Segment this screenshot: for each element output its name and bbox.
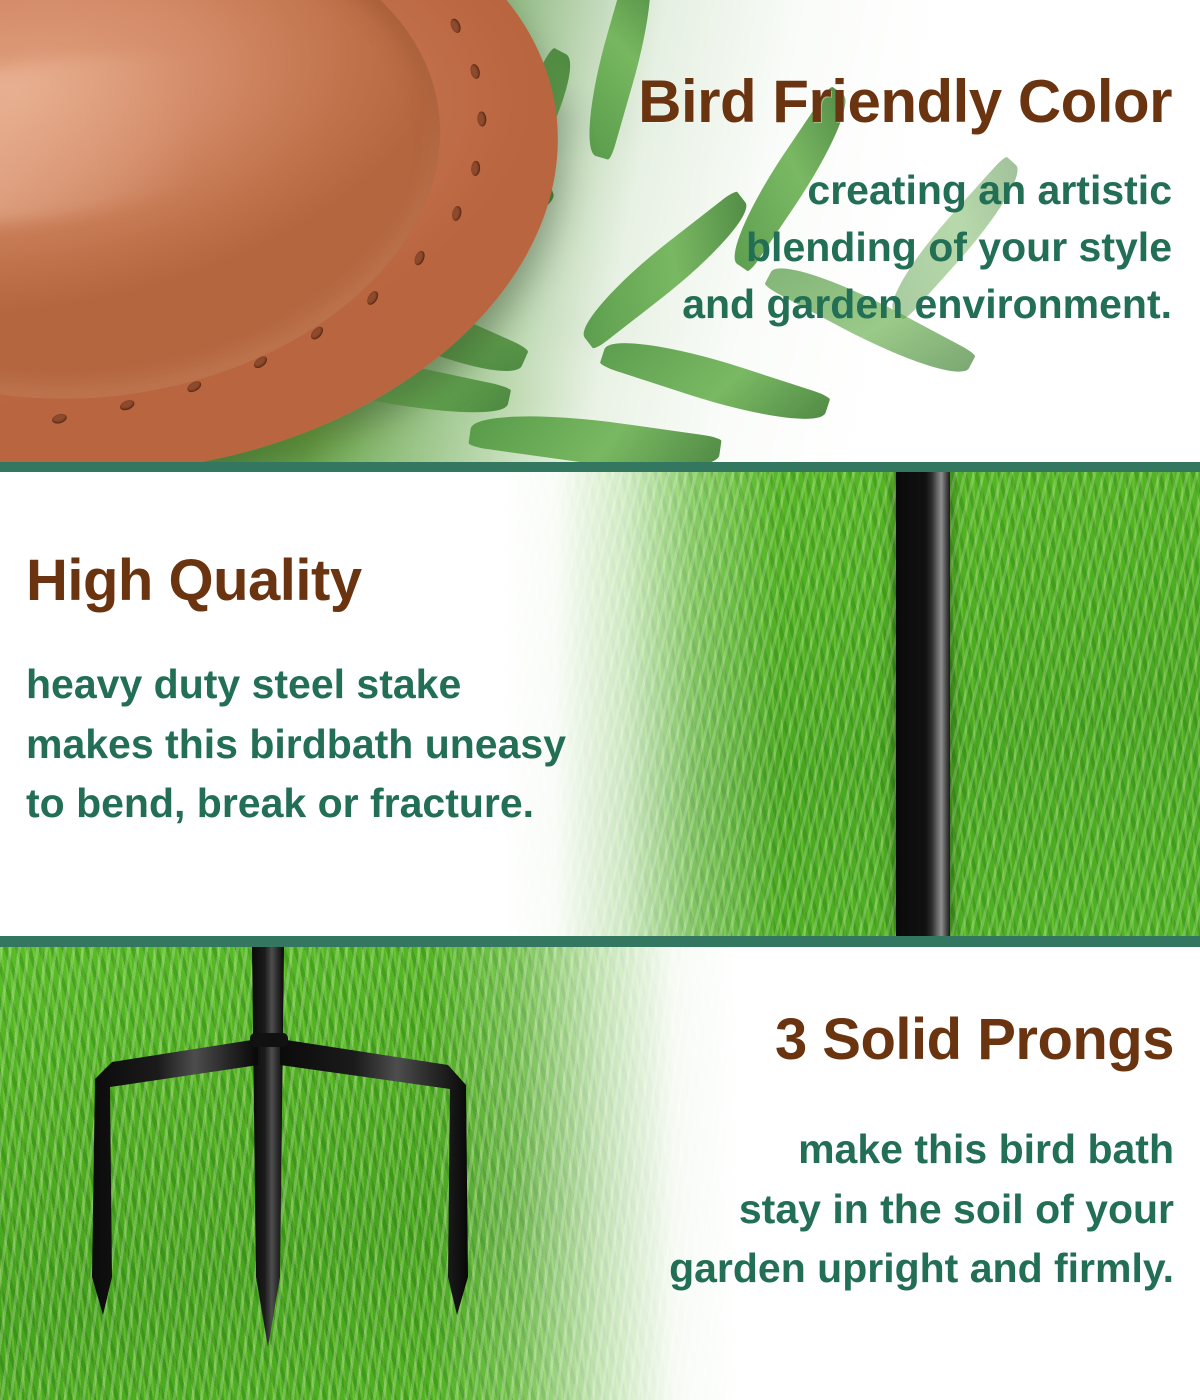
- drain-hole: [469, 63, 481, 80]
- body-line: creating an artistic: [638, 162, 1172, 219]
- product-feature-infographic: Bird Friendly Color creating an artistic…: [0, 0, 1200, 1400]
- body-line: make this bird bath: [669, 1120, 1174, 1179]
- panel-bird-friendly-color-body: creating an artistic blending of your st…: [638, 162, 1172, 334]
- panel-bird-friendly-color: Bird Friendly Color creating an artistic…: [0, 0, 1200, 462]
- body-line: stay in the soil of your: [669, 1180, 1174, 1239]
- body-line: heavy duty steel stake: [26, 655, 566, 714]
- panel-three-solid-prongs-body: make this bird bath stay in the soil of …: [669, 1120, 1174, 1298]
- drain-hole: [119, 398, 136, 412]
- body-line: blending of your style: [638, 219, 1172, 276]
- drain-hole: [450, 205, 462, 222]
- body-line: garden upright and firmly.: [669, 1239, 1174, 1298]
- drain-hole: [51, 412, 68, 425]
- panel-divider: [0, 936, 1200, 947]
- left-prong: [92, 1039, 258, 1315]
- drain-hole: [365, 289, 381, 306]
- panel-high-quality-heading: High Quality: [26, 550, 566, 611]
- prong-collar: [250, 1033, 288, 1047]
- center-prong: [252, 947, 284, 1347]
- drain-hole: [412, 249, 426, 266]
- panel-high-quality-body: heavy duty steel stake makes this birdba…: [26, 655, 566, 833]
- panel-three-solid-prongs: 3 Solid Prongs make this bird bath stay …: [0, 947, 1200, 1400]
- right-prong: [280, 1039, 468, 1315]
- panel-three-solid-prongs-text: 3 Solid Prongs make this bird bath stay …: [669, 1009, 1174, 1299]
- panel-divider: [0, 462, 1200, 472]
- body-line: and garden environment.: [638, 276, 1172, 333]
- steel-pole-grass-photo: [500, 472, 1200, 936]
- three-prong-stake: [0, 947, 740, 1400]
- body-line: makes this birdbath uneasy: [26, 715, 566, 774]
- panel-bird-friendly-color-text: Bird Friendly Color creating an artistic…: [638, 70, 1172, 334]
- steel-pole: [896, 472, 950, 936]
- drain-hole: [471, 161, 481, 177]
- panel-three-solid-prongs-heading: 3 Solid Prongs: [669, 1009, 1174, 1070]
- drain-hole: [449, 17, 463, 34]
- panel-bird-friendly-color-heading: Bird Friendly Color: [638, 70, 1172, 134]
- body-line: to bend, break or fracture.: [26, 774, 566, 833]
- panel-high-quality: High Quality heavy duty steel stake make…: [0, 472, 1200, 936]
- drain-hole: [477, 111, 487, 127]
- panel-high-quality-text: High Quality heavy duty steel stake make…: [26, 550, 566, 834]
